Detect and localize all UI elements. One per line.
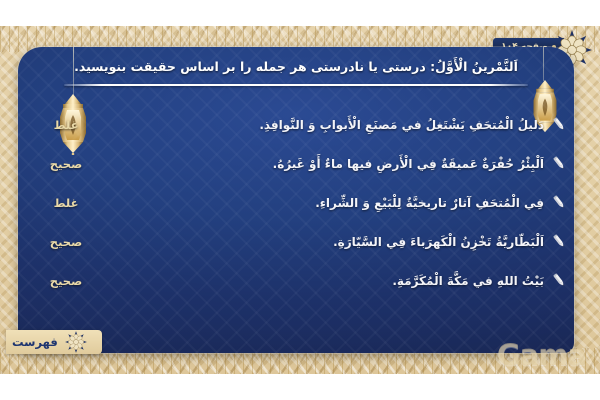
- content-panel: اَلتَّمْرینُ الْأَوَّلُ: درستی یا نادرست…: [18, 47, 574, 353]
- answer-label: غلط: [18, 196, 114, 210]
- lantern-cord: [543, 47, 544, 81]
- star-rosette-icon: [64, 330, 88, 354]
- question-row[interactable]: فِي الْمُتحَفِ آثارٌ تاریخیَّةٌ لِلْبَیْ…: [18, 183, 574, 222]
- question-row[interactable]: دَلیلُ الْمُتحَفِ یَشْتَغِلُ في مَصنَعِ …: [18, 105, 574, 144]
- lantern-cord: [73, 47, 74, 95]
- question-list: دَلیلُ الْمُتحَفِ یَشْتَغِلُ في مَصنَعِ …: [18, 105, 574, 300]
- question-row[interactable]: بَیْتُ اللهِ في مَكَّةَ الْمُكَرَّمَةِ. …: [18, 261, 574, 300]
- answer-label: صحیح: [18, 235, 114, 249]
- pencil-icon: [544, 233, 574, 250]
- question-text: بَیْتُ اللهِ في مَكَّةَ الْمُكَرَّمَةِ.: [114, 272, 544, 290]
- slide-canvas: صفحه ۱۰۴: [0, 26, 600, 374]
- pencil-icon: [544, 116, 574, 133]
- title-divider: [64, 84, 528, 86]
- pencil-icon: [544, 194, 574, 211]
- question-text: فِي الْمُتحَفِ آثارٌ تاریخیَّةٌ لِلْبَیْ…: [114, 194, 544, 212]
- bottom-white-margin: [0, 374, 600, 400]
- question-row[interactable]: اَلْبَطّاریَّةُ تَخْزِنُ الْكَهرَباءَ فِ…: [18, 222, 574, 261]
- pencil-icon: [544, 272, 574, 289]
- question-text: اَلْبَطّاریَّةُ تَخْزِنُ الْكَهرَباءَ فِ…: [114, 233, 544, 251]
- answer-label: غلط: [18, 118, 114, 132]
- index-button[interactable]: فهرست: [6, 330, 102, 354]
- top-white-margin: [0, 0, 600, 26]
- exercise-title: اَلتَّمْرینُ الْأَوَّلُ: درستی یا نادرست…: [46, 59, 546, 76]
- question-text: اَلْبِئْرُ حُفْرَةٌ عَمیقَةٌ فِي الْأَرض…: [114, 155, 544, 173]
- index-button-label: فهرست: [12, 335, 58, 349]
- answer-label: صحیح: [18, 157, 114, 171]
- question-row[interactable]: اَلْبِئْرُ حُفْرَةٌ عَمیقَةٌ فِي الْأَرض…: [18, 144, 574, 183]
- pencil-icon: [544, 155, 574, 172]
- answer-label: صحیح: [18, 274, 114, 288]
- question-text: دَلیلُ الْمُتحَفِ یَشْتَغِلُ في مَصنَعِ …: [114, 116, 544, 134]
